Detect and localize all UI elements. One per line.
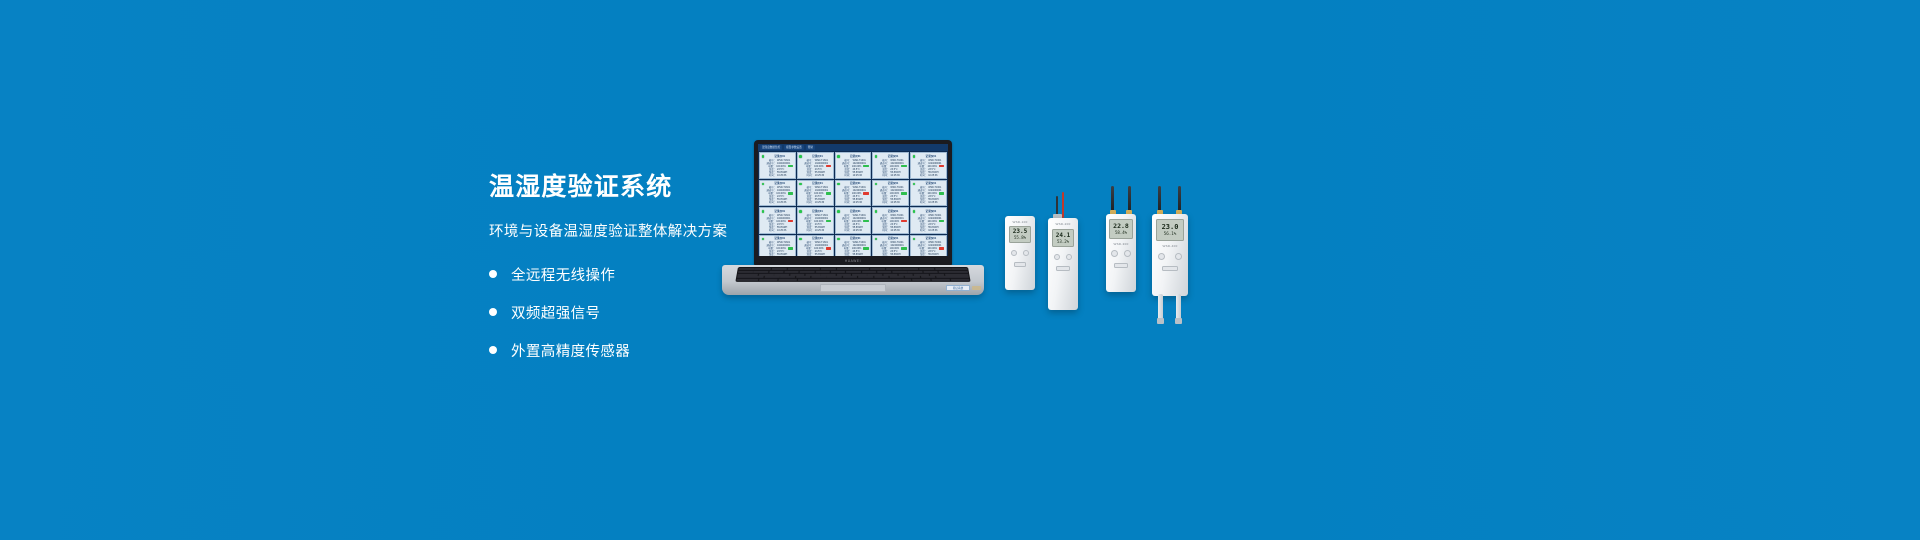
keyboard-key[interactable] <box>929 273 944 275</box>
probe-tip-right <box>1175 318 1182 324</box>
bullet-dot-icon <box>489 308 497 316</box>
page-title: 温湿度验证系统 <box>489 172 919 202</box>
sensor-card-title: 记录仪01 <box>766 155 793 158</box>
device-body: WSD-200 24.1 53.2% <box>1048 218 1078 310</box>
device-button-right[interactable] <box>1124 250 1131 257</box>
device-handheld-logger: WSD-100 23.5 55.8% <box>1005 216 1035 290</box>
lcd-secondary-value: 58.4% <box>1115 231 1127 235</box>
status-badge-ok <box>939 192 945 194</box>
feature-item: 全远程无线操作 <box>489 261 919 287</box>
banner-copy: 温湿度验证系统 环境与设备温湿度验证整体解决方案 全远程无线操作 双频超强信号 … <box>489 172 919 375</box>
device-brand-label: WSD-100 <box>1005 220 1035 224</box>
status-led-icon <box>837 155 840 158</box>
device-dual-probe-validator: 23.0 56.1% WSD-400 <box>1152 186 1188 296</box>
antenna-right <box>1178 186 1181 212</box>
keyboard-key[interactable] <box>936 276 969 278</box>
tab-monitor[interactable]: 温湿度数据监控 <box>760 145 782 150</box>
device-body: 23.0 56.1% WSD-400 <box>1152 214 1188 296</box>
status-badge-alarm <box>939 247 945 249</box>
lcd-secondary-value: 56.1% <box>1164 232 1177 236</box>
device-lcd: 23.5 55.8% <box>1009 226 1031 243</box>
keyboard-key[interactable] <box>945 273 969 275</box>
feature-item: 双频超强信号 <box>489 299 919 325</box>
lcd-secondary-value: 55.8% <box>1014 236 1026 240</box>
status-badge-ok <box>788 165 794 167</box>
status-badge-alarm <box>939 165 945 167</box>
lcd-primary-value: 24.1 <box>1056 233 1070 239</box>
status-badge-ok <box>863 165 869 167</box>
sensor-card-title: 记录仪01 <box>917 155 944 158</box>
sensor-card-title: 记录仪01 <box>917 237 944 240</box>
status-badge-ok <box>939 220 945 222</box>
device-body: WSD-100 23.5 55.8% <box>1005 216 1035 290</box>
device-button-left[interactable] <box>1011 250 1017 256</box>
device-button-center[interactable] <box>1162 266 1178 271</box>
device-brand-label: WSD-300 <box>1106 242 1136 246</box>
sensor-card-row: 时间：10:25:36 <box>917 174 944 177</box>
device-lcd: 23.0 56.1% <box>1156 219 1184 241</box>
feature-list: 全远程无线操作 双频超强信号 外置高精度传感器 <box>489 261 919 363</box>
antenna-left <box>1158 186 1161 212</box>
lcd-primary-value: 22.8 <box>1113 223 1129 230</box>
tab-alarm-settings[interactable]: 报警参数设置 <box>784 145 804 150</box>
device-wireless-transmitter: WSD-200 24.1 53.2% <box>1048 198 1078 310</box>
keyboard-key[interactable] <box>923 271 938 273</box>
probe-wire-red <box>1062 192 1064 218</box>
device-button-right[interactable] <box>1023 250 1029 256</box>
device-button-center[interactable] <box>1014 262 1026 267</box>
keyboard-key[interactable] <box>952 268 968 270</box>
device-brand-label: WSD-400 <box>1152 244 1188 248</box>
device-button-center[interactable] <box>1056 266 1070 271</box>
status-badge-alarm <box>826 165 832 167</box>
lcd-primary-value: 23.0 <box>1162 224 1179 231</box>
status-badge-ok <box>901 165 907 167</box>
feature-label: 双频超强信号 <box>511 302 600 323</box>
sensor-card-title: 记录仪01 <box>842 155 869 158</box>
sensor-card-row: 时间：10:25:36 <box>917 201 944 204</box>
sensor-card-title: 记录仪01 <box>879 155 906 158</box>
status-led-icon <box>875 155 878 158</box>
device-button-center[interactable] <box>1114 263 1128 268</box>
status-led-icon <box>762 155 765 158</box>
device-external-probe-logger: 22.8 58.4% WSD-300 <box>1106 186 1136 292</box>
keyboard-key[interactable] <box>939 271 969 273</box>
dashboard-header: 温湿度数据监控 报警参数设置 帮助 <box>758 144 948 151</box>
sensor-field-value: 10:25:36 <box>928 174 937 177</box>
device-brand-label: WSD-200 <box>1048 222 1078 226</box>
device-button-right[interactable] <box>1175 253 1182 260</box>
status-led-icon <box>913 155 916 158</box>
antenna-right <box>1128 186 1131 212</box>
bullet-dot-icon <box>489 346 497 354</box>
device-button-left[interactable] <box>1111 250 1118 257</box>
device-lcd: 22.8 58.4% <box>1109 219 1133 239</box>
device-body: 22.8 58.4% WSD-300 <box>1106 214 1136 292</box>
status-led-icon <box>799 155 802 158</box>
bullet-dot-icon <box>489 270 497 278</box>
tab-help[interactable]: 帮助 <box>806 145 815 150</box>
page-subtitle: 环境与设备温湿度验证整体解决方案 <box>489 220 919 241</box>
device-button-left[interactable] <box>1054 254 1060 260</box>
sensor-field-value: 10:25:36 <box>928 201 937 204</box>
keyboard-key[interactable] <box>935 268 951 270</box>
sensor-card-title: 记录仪01 <box>917 182 944 185</box>
keyboard-key[interactable] <box>921 276 936 278</box>
sensor-card-row: 时间：10:25:36 <box>917 229 944 232</box>
feature-label: 全远程无线操作 <box>511 264 615 285</box>
feature-item: 外置高精度传感器 <box>489 337 919 363</box>
device-button-right[interactable] <box>1066 254 1072 260</box>
device-button-left[interactable] <box>1158 253 1165 260</box>
product-banner: 温湿度验证系统 环境与设备温湿度验证整体解决方案 全远程无线操作 双频超强信号 … <box>0 0 1920 540</box>
keyboard-key[interactable] <box>919 268 935 270</box>
sensor-field-value: 10:25:36 <box>928 229 937 232</box>
feature-label: 外置高精度传感器 <box>511 340 630 361</box>
antenna-left <box>1111 186 1114 212</box>
keyboard-key[interactable] <box>950 279 969 281</box>
keyboard-key[interactable] <box>931 279 950 281</box>
probe-tip-left <box>1157 318 1164 324</box>
sensor-card-title: 记录仪01 <box>917 210 944 213</box>
device-lcd: 24.1 53.2% <box>1052 229 1074 247</box>
laptop-sticker: 验证系统 <box>946 285 970 291</box>
laptop-sticker-secondary <box>972 286 981 290</box>
sensor-card-title: 记录仪01 <box>804 155 831 158</box>
lcd-secondary-value: 53.2% <box>1057 240 1069 244</box>
